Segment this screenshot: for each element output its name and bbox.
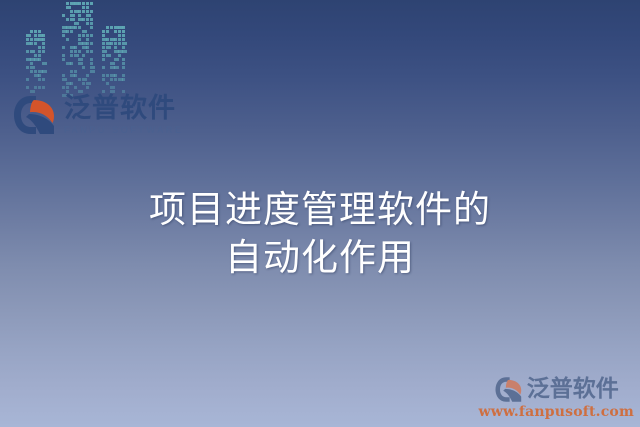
watermark-brand-cn: 泛普软件 bbox=[527, 378, 619, 401]
fanpu-watermark-mark-icon bbox=[494, 376, 524, 403]
site-watermark: 泛普软件 www.fanpusoft.com bbox=[478, 376, 634, 420]
brand-logo: 泛普软件 FANPU SOFTWARE bbox=[12, 94, 184, 136]
brand-name-en: FANPU SOFTWARE bbox=[64, 126, 184, 135]
headline-line-2: 自动化作用 bbox=[0, 234, 640, 282]
headline-line-1: 项目进度管理软件的 bbox=[0, 186, 640, 234]
presentation-slide: 泛普软件 FANPU SOFTWARE 项目进度管理软件的 自动化作用 泛普软件… bbox=[0, 0, 640, 427]
watermark-url: www.fanpusoft.com bbox=[478, 404, 634, 420]
pixel-cityscape-decoration bbox=[24, 0, 124, 92]
brand-name-cn: 泛普软件 bbox=[64, 95, 184, 122]
fanpu-logo-mark-icon bbox=[12, 94, 58, 136]
slide-headline: 项目进度管理软件的 自动化作用 bbox=[0, 186, 640, 282]
watermark-brand-row: 泛普软件 bbox=[494, 376, 619, 403]
brand-wordmark: 泛普软件 FANPU SOFTWARE bbox=[64, 95, 184, 135]
